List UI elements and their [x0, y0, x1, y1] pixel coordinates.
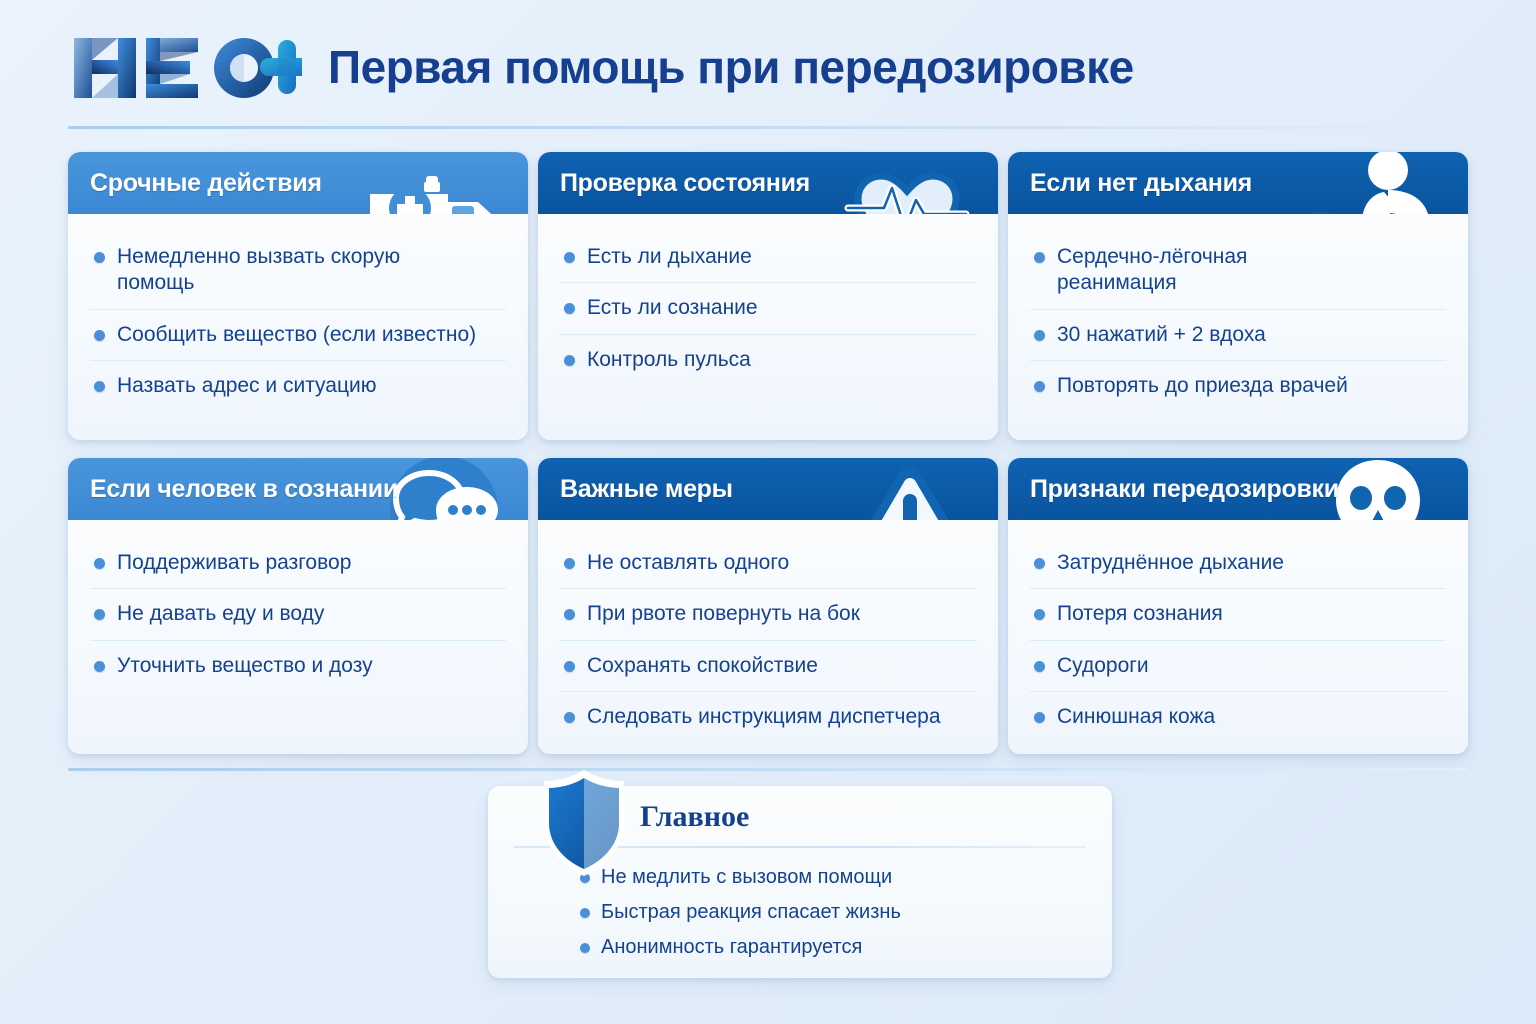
warning-triangle-icon	[822, 458, 992, 520]
cpr-icon	[1292, 152, 1462, 214]
list-item[interactable]: Есть ли дыхание	[560, 232, 976, 283]
card-title: Срочные действия	[90, 169, 322, 198]
bullet-icon	[94, 330, 105, 341]
bullet-icon	[564, 355, 575, 366]
list-item-label: Есть ли сознание	[587, 295, 758, 321]
logo-letter-e	[146, 38, 198, 98]
list-item[interactable]: Контроль пульса	[560, 335, 976, 385]
list-item-label: Потеря сознания	[1057, 601, 1223, 627]
list-item[interactable]: 30 нажатий + 2 вдоха	[1030, 310, 1446, 361]
cards-row-1: Срочные действия	[68, 152, 1468, 440]
bullet-icon	[564, 609, 575, 620]
header-divider	[68, 126, 1468, 129]
list-item[interactable]: Синюшная кожа	[1030, 692, 1446, 742]
bullet-icon	[94, 609, 105, 620]
list-item-label: Не оставлять одного	[587, 550, 789, 576]
list-item[interactable]: Быстрая реакция спасает жизнь	[580, 895, 901, 930]
list-item[interactable]: Не давать еду и воду	[90, 589, 506, 640]
bullet-icon	[1034, 609, 1045, 620]
card-header: Важные меры	[538, 458, 998, 520]
card-title: Если человек в сознании	[90, 475, 398, 504]
card-title: Важные меры	[560, 475, 733, 504]
list-item-label: Синюшная кожа	[1057, 704, 1215, 730]
list-item-label: Затруднённое дыхание	[1057, 550, 1284, 576]
list-item-label: Не медлить с вызовом помощи	[601, 865, 892, 890]
card-urgent-actions[interactable]: Срочные действия	[68, 152, 528, 440]
list-item-label: Не давать еду и воду	[117, 601, 324, 627]
list-item[interactable]: При рвоте повернуть на бок	[560, 589, 976, 640]
card-title: Проверка состояния	[560, 169, 810, 198]
shield-icon	[538, 768, 630, 878]
card-body: Поддерживать разговор Не давать еду и во…	[68, 520, 528, 701]
bullet-icon	[1034, 558, 1045, 569]
bullet-icon	[564, 712, 575, 723]
list-item[interactable]: Уточнить вещество и дозу	[90, 641, 506, 691]
list-item[interactable]: Затруднённое дыхание	[1030, 538, 1446, 589]
bullet-icon	[564, 303, 575, 314]
list-item-label: Судороги	[1057, 653, 1149, 679]
bullet-icon	[1034, 661, 1045, 672]
list-item[interactable]: Сохранять спокойствие	[560, 641, 976, 692]
cards-grid: Срочные действия	[68, 152, 1468, 754]
card-no-breathing[interactable]: Если нет дыхания	[1008, 152, 1468, 440]
bullet-icon	[564, 661, 575, 672]
card-header: Если человек в сознании	[68, 458, 528, 520]
bullet-icon	[564, 252, 575, 263]
cards-row-2: Если человек в сознании	[68, 458, 1468, 754]
list-item-label: Сохранять спокойствие	[587, 653, 818, 679]
card-body: Не оставлять одного При рвоте повернуть …	[538, 520, 998, 752]
list-item[interactable]: Поддерживать разговор	[90, 538, 506, 589]
list-item[interactable]: Повторять до приезда врачей	[1030, 361, 1446, 411]
card-body: Немедленно вызвать скорую помощь Сообщит…	[68, 214, 528, 421]
list-item-label: Сообщить вещество (если известно)	[117, 322, 476, 348]
summary-title: Главное	[640, 800, 749, 834]
bullet-icon	[94, 381, 105, 392]
list-item[interactable]: Не оставлять одного	[560, 538, 976, 589]
card-header: Проверка состояния	[538, 152, 998, 214]
neo-plus-logo	[72, 32, 302, 104]
list-item[interactable]: Анонимность гарантируется	[580, 930, 901, 965]
bullet-icon	[580, 943, 590, 953]
page-header: Первая помощь при передозировке	[0, 0, 1536, 132]
card-body: Затруднённое дыхание Потеря сознания Суд…	[1008, 520, 1468, 752]
logo-letter-n	[74, 38, 136, 98]
list-item-label: 30 нажатий + 2 вдоха	[1057, 322, 1266, 348]
page-title: Первая помощь при передозировке	[328, 40, 1134, 94]
card-condition-check[interactable]: Проверка состояния Есть ли дыхание	[538, 152, 998, 440]
list-item[interactable]: Следовать инструкциям диспетчера	[560, 692, 976, 742]
card-overdose-signs[interactable]: Признаки передозировки	[1008, 458, 1468, 754]
bullet-icon	[94, 661, 105, 672]
card-header: Срочные действия	[68, 152, 528, 214]
list-item-label: Контроль пульса	[587, 347, 751, 373]
list-item-label: Поддерживать разговор	[117, 550, 351, 576]
list-item-label: Повторять до приезда врачей	[1057, 373, 1348, 399]
bullet-icon	[564, 558, 575, 569]
card-body: Сердечно-лёгочная реанимация 30 нажатий …	[1008, 214, 1468, 421]
card-person-conscious[interactable]: Если человек в сознании	[68, 458, 528, 754]
list-item[interactable]: Судороги	[1030, 641, 1446, 692]
card-body: Есть ли дыхание Есть ли сознание Контрол…	[538, 214, 998, 395]
card-title: Если нет дыхания	[1030, 169, 1252, 198]
list-item[interactable]: Немедленно вызвать скорую помощь	[90, 232, 506, 310]
bullet-icon	[94, 558, 105, 569]
list-item[interactable]: Назвать адрес и ситуацию	[90, 361, 506, 411]
list-item-label: Уточнить вещество и дозу	[117, 653, 373, 679]
list-item-label: Есть ли дыхание	[587, 244, 752, 270]
list-item[interactable]: Потеря сознания	[1030, 589, 1446, 640]
card-important-measures[interactable]: Важные меры Не оставлять одного	[538, 458, 998, 754]
bullet-icon	[580, 908, 590, 918]
list-item[interactable]: Сообщить вещество (если известно)	[90, 310, 506, 361]
bullet-icon	[1034, 712, 1045, 723]
list-item[interactable]: Есть ли сознание	[560, 283, 976, 334]
summary-panel[interactable]: Главное Не медлить с вызовом помощи Быст…	[488, 786, 1112, 978]
bullet-icon	[1034, 252, 1045, 263]
card-header: Если нет дыхания	[1008, 152, 1468, 214]
bullet-icon	[1034, 381, 1045, 392]
ambulance-icon	[352, 152, 522, 214]
infographic-page: Первая помощь при передозировке Срочные …	[0, 0, 1536, 1024]
footer-divider	[68, 768, 1468, 771]
bullet-icon	[1034, 330, 1045, 341]
list-item-label: Следовать инструкциям диспетчера	[587, 704, 941, 730]
card-header: Признаки передозировки	[1008, 458, 1468, 520]
bullet-icon	[94, 252, 105, 263]
list-item-label: При рвоте повернуть на бок	[587, 601, 860, 627]
heart-pulse-icon	[822, 152, 992, 214]
list-item-label: Быстрая реакция спасает жизнь	[601, 900, 901, 925]
list-item-label: Сердечно-лёгочная реанимация	[1057, 244, 1357, 297]
list-item-label: Немедленно вызвать скорую помощь	[117, 244, 477, 297]
card-title: Признаки передозировки	[1030, 475, 1339, 504]
list-item-label: Анонимность гарантируется	[601, 935, 862, 960]
list-item[interactable]: Сердечно-лёгочная реанимация	[1030, 232, 1446, 310]
list-item-label: Назвать адрес и ситуацию	[117, 373, 377, 399]
